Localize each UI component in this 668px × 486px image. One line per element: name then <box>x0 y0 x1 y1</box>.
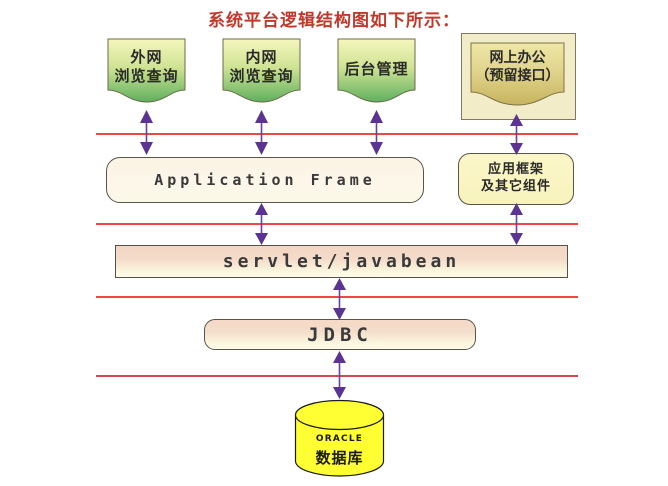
separator-line-2 <box>96 223 578 225</box>
layer-box-internal-network[interactable]: 内网 浏览查询 <box>222 38 301 106</box>
page-title: 系统平台逻辑结构图如下所示： <box>0 6 668 31</box>
separator-line-1 <box>96 133 578 135</box>
application-frame-box[interactable]: Application Frame <box>106 157 424 203</box>
jdbc-label: JDBC <box>307 324 373 346</box>
arrow-external-to-appframe <box>139 110 154 155</box>
jdbc-bar[interactable]: JDBC <box>204 319 476 350</box>
right-component-box[interactable]: 应用框架 及其它组件 <box>458 153 574 205</box>
architecture-diagram: 系统平台逻辑结构图如下所示： 外网 浏览查询 <box>0 0 668 486</box>
layer-box-online-office-reserved-interface[interactable]: 网上办公 （预留接口） <box>470 42 565 110</box>
arrow-servlet-to-jdbc <box>332 278 347 320</box>
arrow-jdbc-to-database <box>332 351 347 399</box>
servlet-javabean-bar[interactable]: servlet/javabean <box>115 245 568 278</box>
arrow-component-to-servlet <box>509 203 524 245</box>
layer-box-external-network[interactable]: 外网 浏览查询 <box>107 38 186 106</box>
arrow-backend-to-appframe <box>369 110 384 155</box>
arrow-internal-to-appframe <box>254 110 269 155</box>
application-frame-label: Application Frame <box>154 171 376 189</box>
servlet-javabean-label: servlet/javabean <box>223 251 460 272</box>
database-cylinder[interactable]: ORACLE 数据库 <box>294 399 385 480</box>
arrow-online-office-to-component <box>509 114 524 155</box>
arrow-appframe-to-servlet <box>254 203 269 245</box>
layer-box-backend-management[interactable]: 后台管理 <box>337 38 416 106</box>
right-component-label: 应用框架 及其它组件 <box>481 162 551 196</box>
